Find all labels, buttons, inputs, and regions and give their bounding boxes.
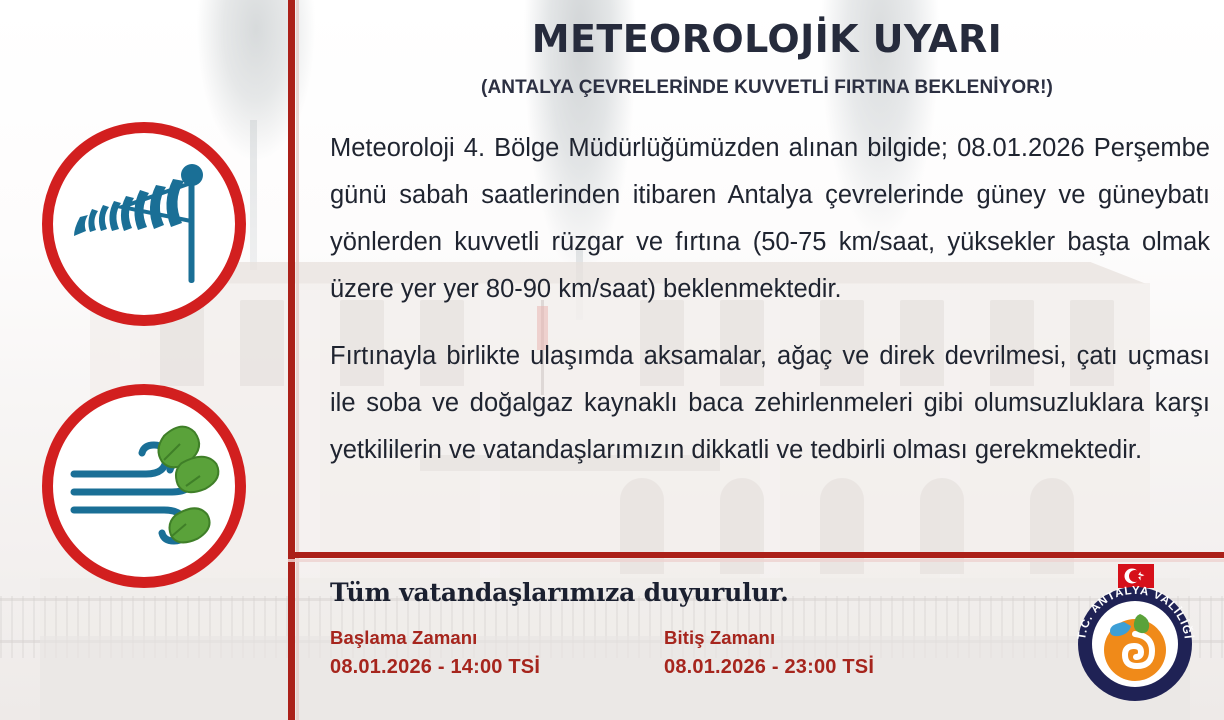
warning-body: Meteoroloji 4. Bölge Müdürlüğümüzden alı… xyxy=(310,125,1224,474)
page-subtitle: (ANTALYA ÇEVRELERİNDE KUVVETLİ FIRTINA B… xyxy=(310,77,1224,99)
turkish-flag-icon xyxy=(1118,564,1154,588)
vertical-divider xyxy=(288,0,295,720)
warning-paragraph-1: Meteoroloji 4. Bölge Müdürlüğümüzden alı… xyxy=(330,125,1210,313)
vertical-divider-highlight xyxy=(296,0,299,720)
end-time-block: Bitiş Zamanı 08.01.2026 - 23:00 TSİ xyxy=(664,627,904,679)
end-time-label: Bitiş Zamanı xyxy=(664,627,904,649)
wind-leaves-icon xyxy=(60,416,228,556)
warning-paragraph-2: Fırtınayla birlikte ulaşımda aksamalar, … xyxy=(330,333,1210,474)
wind-leaves-icon-badge xyxy=(42,384,246,588)
end-time-value: 08.01.2026 - 23:00 TSİ xyxy=(664,656,904,679)
antalya-governorship-emblem: T.C. ANTALYA VALİLİĞİ xyxy=(1068,564,1202,706)
windsock-icon-badge xyxy=(42,122,246,326)
page-title: METEOROLOJİK UYARI xyxy=(310,17,1224,61)
windsock-icon xyxy=(64,149,224,299)
start-time-block: Başlama Zamanı 08.01.2026 - 14:00 TSİ xyxy=(330,627,570,679)
meteorological-warning-poster: METEOROLOJİK UYARI (ANTALYA ÇEVRELERİNDE… xyxy=(0,0,1224,720)
start-time-label: Başlama Zamanı xyxy=(330,627,570,649)
emblem-graphic: T.C. ANTALYA VALİLİĞİ xyxy=(1068,564,1202,706)
start-time-value: 08.01.2026 - 14:00 TSİ xyxy=(330,656,570,679)
icon-column xyxy=(0,0,288,720)
